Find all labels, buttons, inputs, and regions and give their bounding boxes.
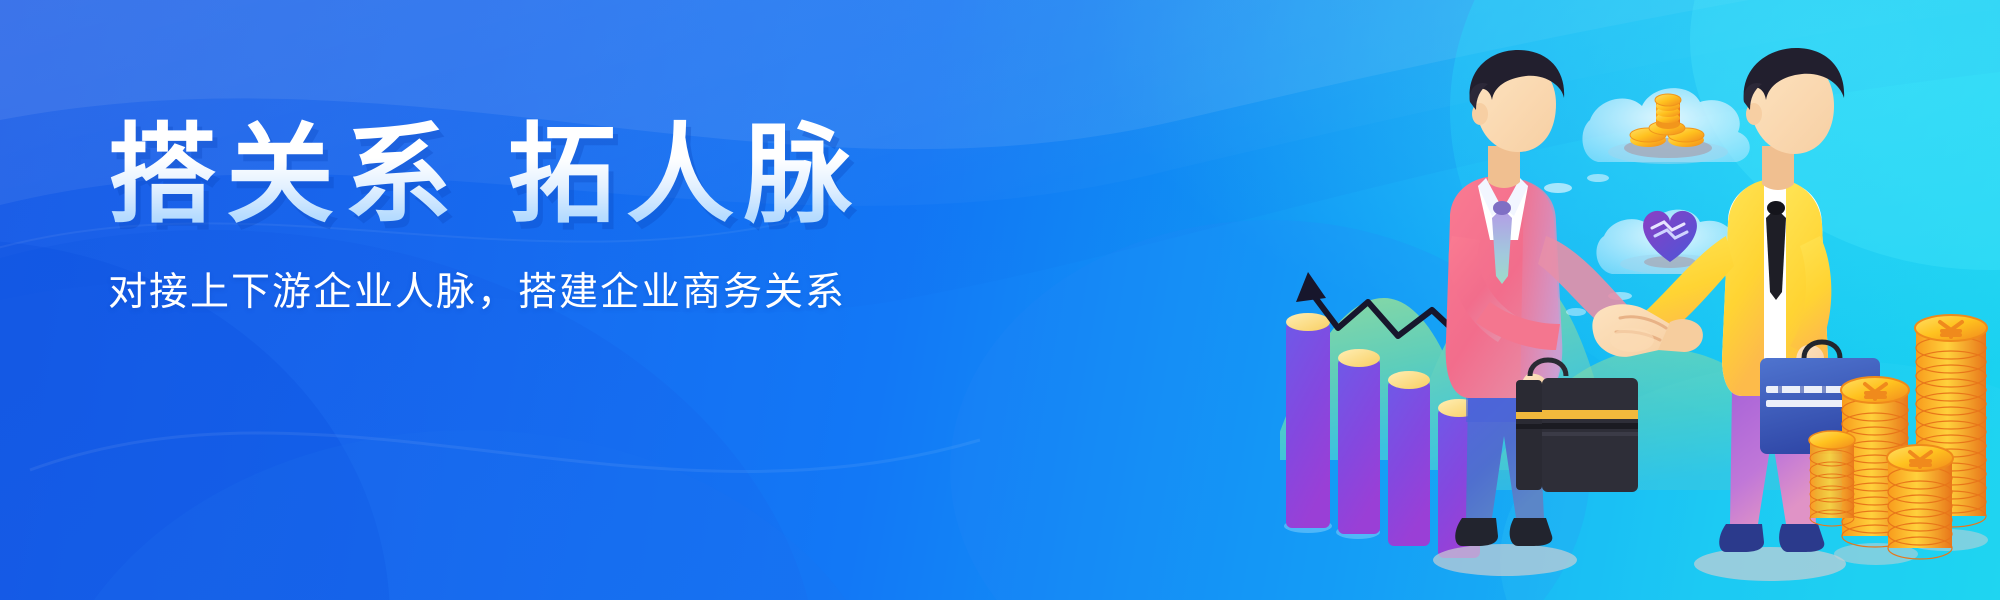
handshake-illustration <box>1280 40 2000 600</box>
coin-stack-short <box>1887 445 1953 559</box>
banner-copy: 搭关系拓人脉 对接上下游企业人脉，搭建企业商务关系 <box>108 118 988 317</box>
banner-subheadline: 对接上下游企业人脉，搭建企业商务关系 <box>108 261 988 317</box>
coin-stack-small <box>1809 431 1855 526</box>
headline-part-1: 搭关系 <box>108 113 462 238</box>
promo-banner: 搭关系拓人脉 对接上下游企业人脉，搭建企业商务关系 <box>0 0 2000 600</box>
coin-stacks-group <box>1809 315 1988 565</box>
banner-headline: 搭关系拓人脉 <box>108 118 988 235</box>
headline-part-2: 拓人脉 <box>508 113 862 238</box>
